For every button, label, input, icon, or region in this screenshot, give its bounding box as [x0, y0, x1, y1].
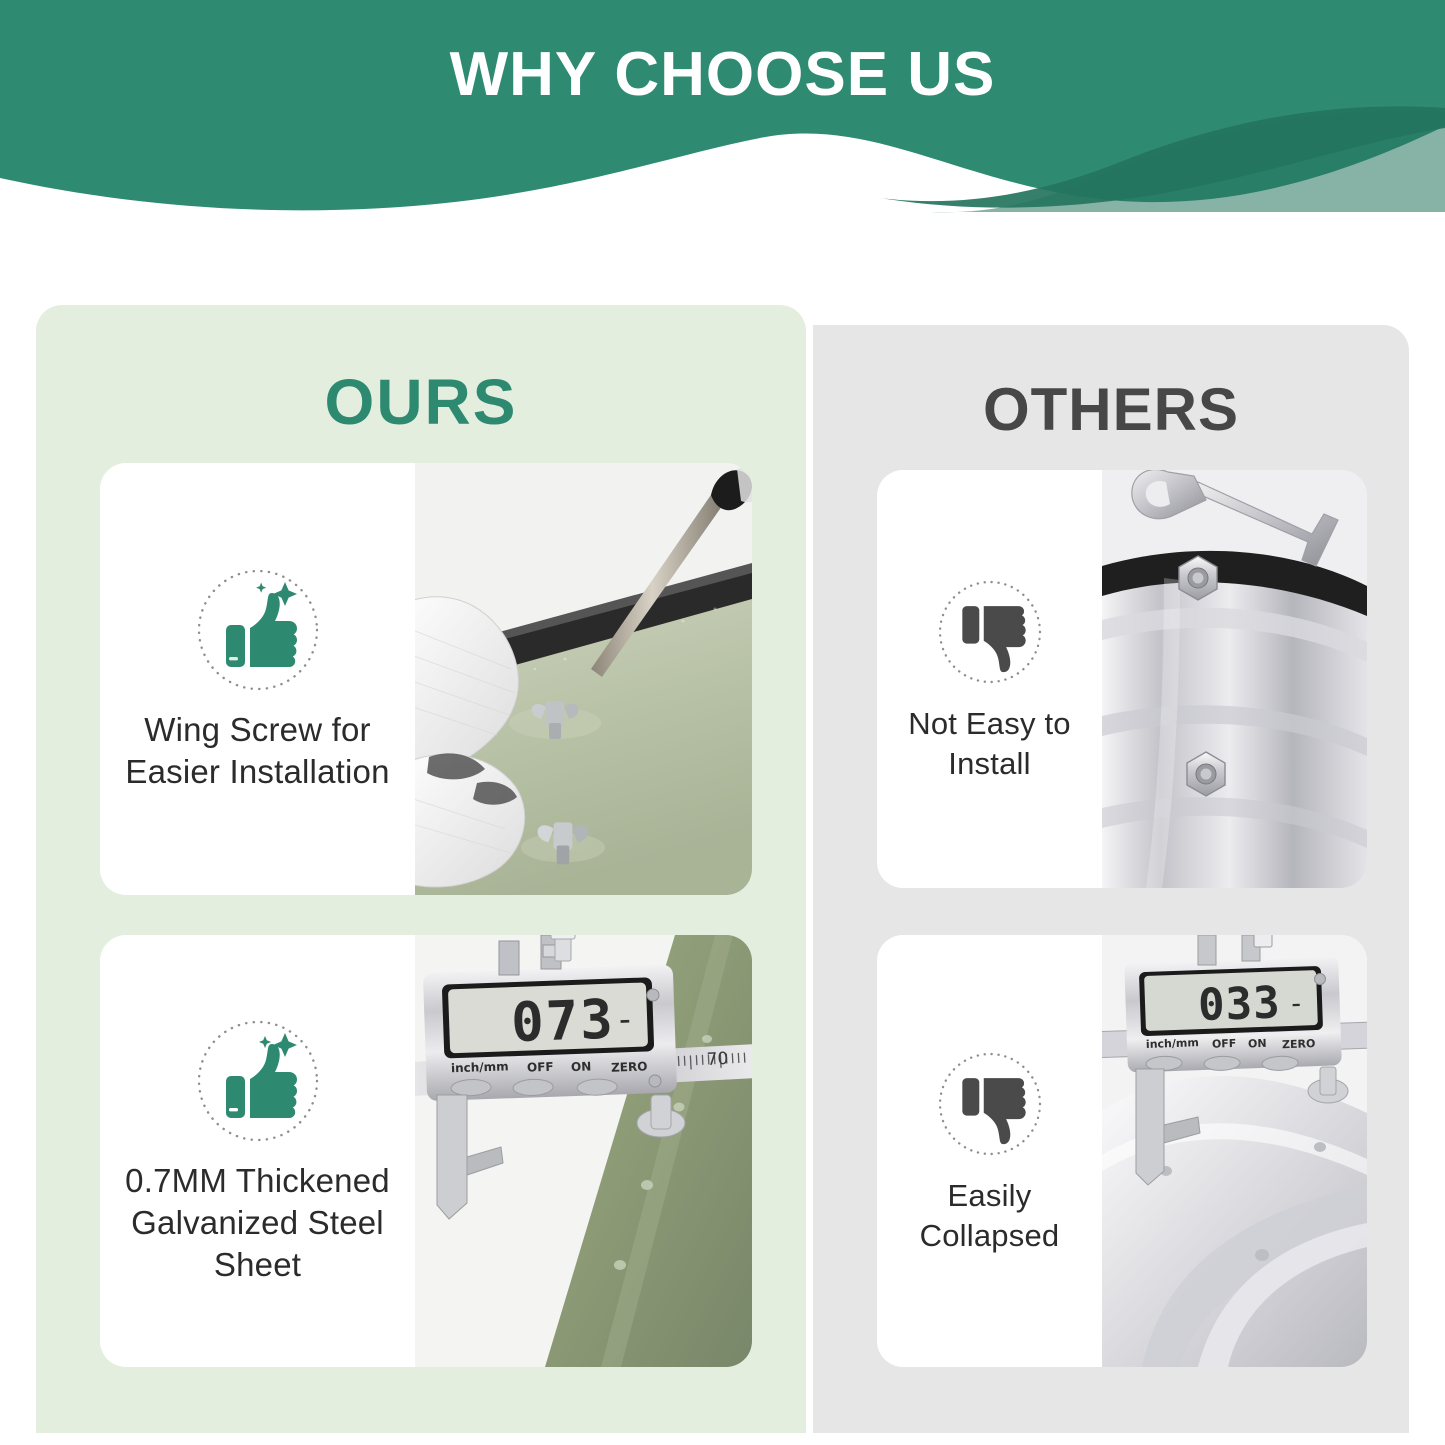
caliper-label-on: ON	[571, 1059, 592, 1074]
thumbs-up-icon	[193, 1016, 323, 1146]
caliper-reading: 033	[1197, 977, 1281, 1031]
wing-screw-photo	[415, 463, 752, 895]
card-text-column: Not Easy to Install	[877, 470, 1102, 888]
thumbs-down-icon	[932, 574, 1048, 690]
caliper-thin-sheet-photo: 033 - inch/mm OFF ON ZERO	[1102, 935, 1367, 1367]
caliper-label-inchmm: inch/mm	[1146, 1036, 1199, 1051]
others-heading: OTHERS	[813, 380, 1409, 440]
ours-card-wing-screw[interactable]: Wing Screw for Easier Installation	[100, 463, 752, 895]
ours-heading: OURS	[36, 370, 806, 434]
wrench-hex-nut-photo	[1102, 470, 1367, 888]
others-card-easily-collapsed[interactable]: Easily Collapsed	[877, 935, 1367, 1367]
caliper-label-off: OFF	[527, 1060, 554, 1075]
svg-text:-: -	[614, 999, 636, 1040]
thumbs-down-icon	[932, 1046, 1048, 1162]
caliper-label-on: ON	[1248, 1037, 1267, 1051]
caliper-ruler-mark: 70	[706, 1049, 729, 1070]
card-text-column: Wing Screw for Easier Installation	[100, 463, 415, 895]
caliper-green-sheet-photo: 70 073 - inch/mm OFF ON ZERO	[415, 935, 752, 1367]
ours-card-2-label: 0.7MM Thickened Galvanized Steel Sheet	[110, 1160, 405, 1287]
others-card-1-label: Not Easy to Install	[885, 704, 1094, 783]
ours-card-1-label: Wing Screw for Easier Installation	[110, 709, 405, 793]
caliper-label-zero: ZERO	[611, 1059, 648, 1074]
page-title: WHY CHOOSE US	[0, 44, 1445, 106]
caliper-label-zero: ZERO	[1282, 1037, 1316, 1051]
svg-text:-: -	[1287, 986, 1305, 1020]
card-text-column: Easily Collapsed	[877, 935, 1102, 1367]
page-header: WHY CHOOSE US	[0, 0, 1445, 215]
thumbs-up-icon	[193, 565, 323, 695]
card-text-column: 0.7MM Thickened Galvanized Steel Sheet	[100, 935, 415, 1367]
others-card-2-label: Easily Collapsed	[885, 1176, 1094, 1255]
caliper-label-off: OFF	[1212, 1037, 1237, 1051]
caliper-reading: 073	[510, 988, 616, 1055]
caliper-label-inchmm: inch/mm	[451, 1059, 509, 1075]
others-card-not-easy-install[interactable]: Not Easy to Install	[877, 470, 1367, 888]
ours-card-thickness[interactable]: 0.7MM Thickened Galvanized Steel Sheet	[100, 935, 752, 1367]
